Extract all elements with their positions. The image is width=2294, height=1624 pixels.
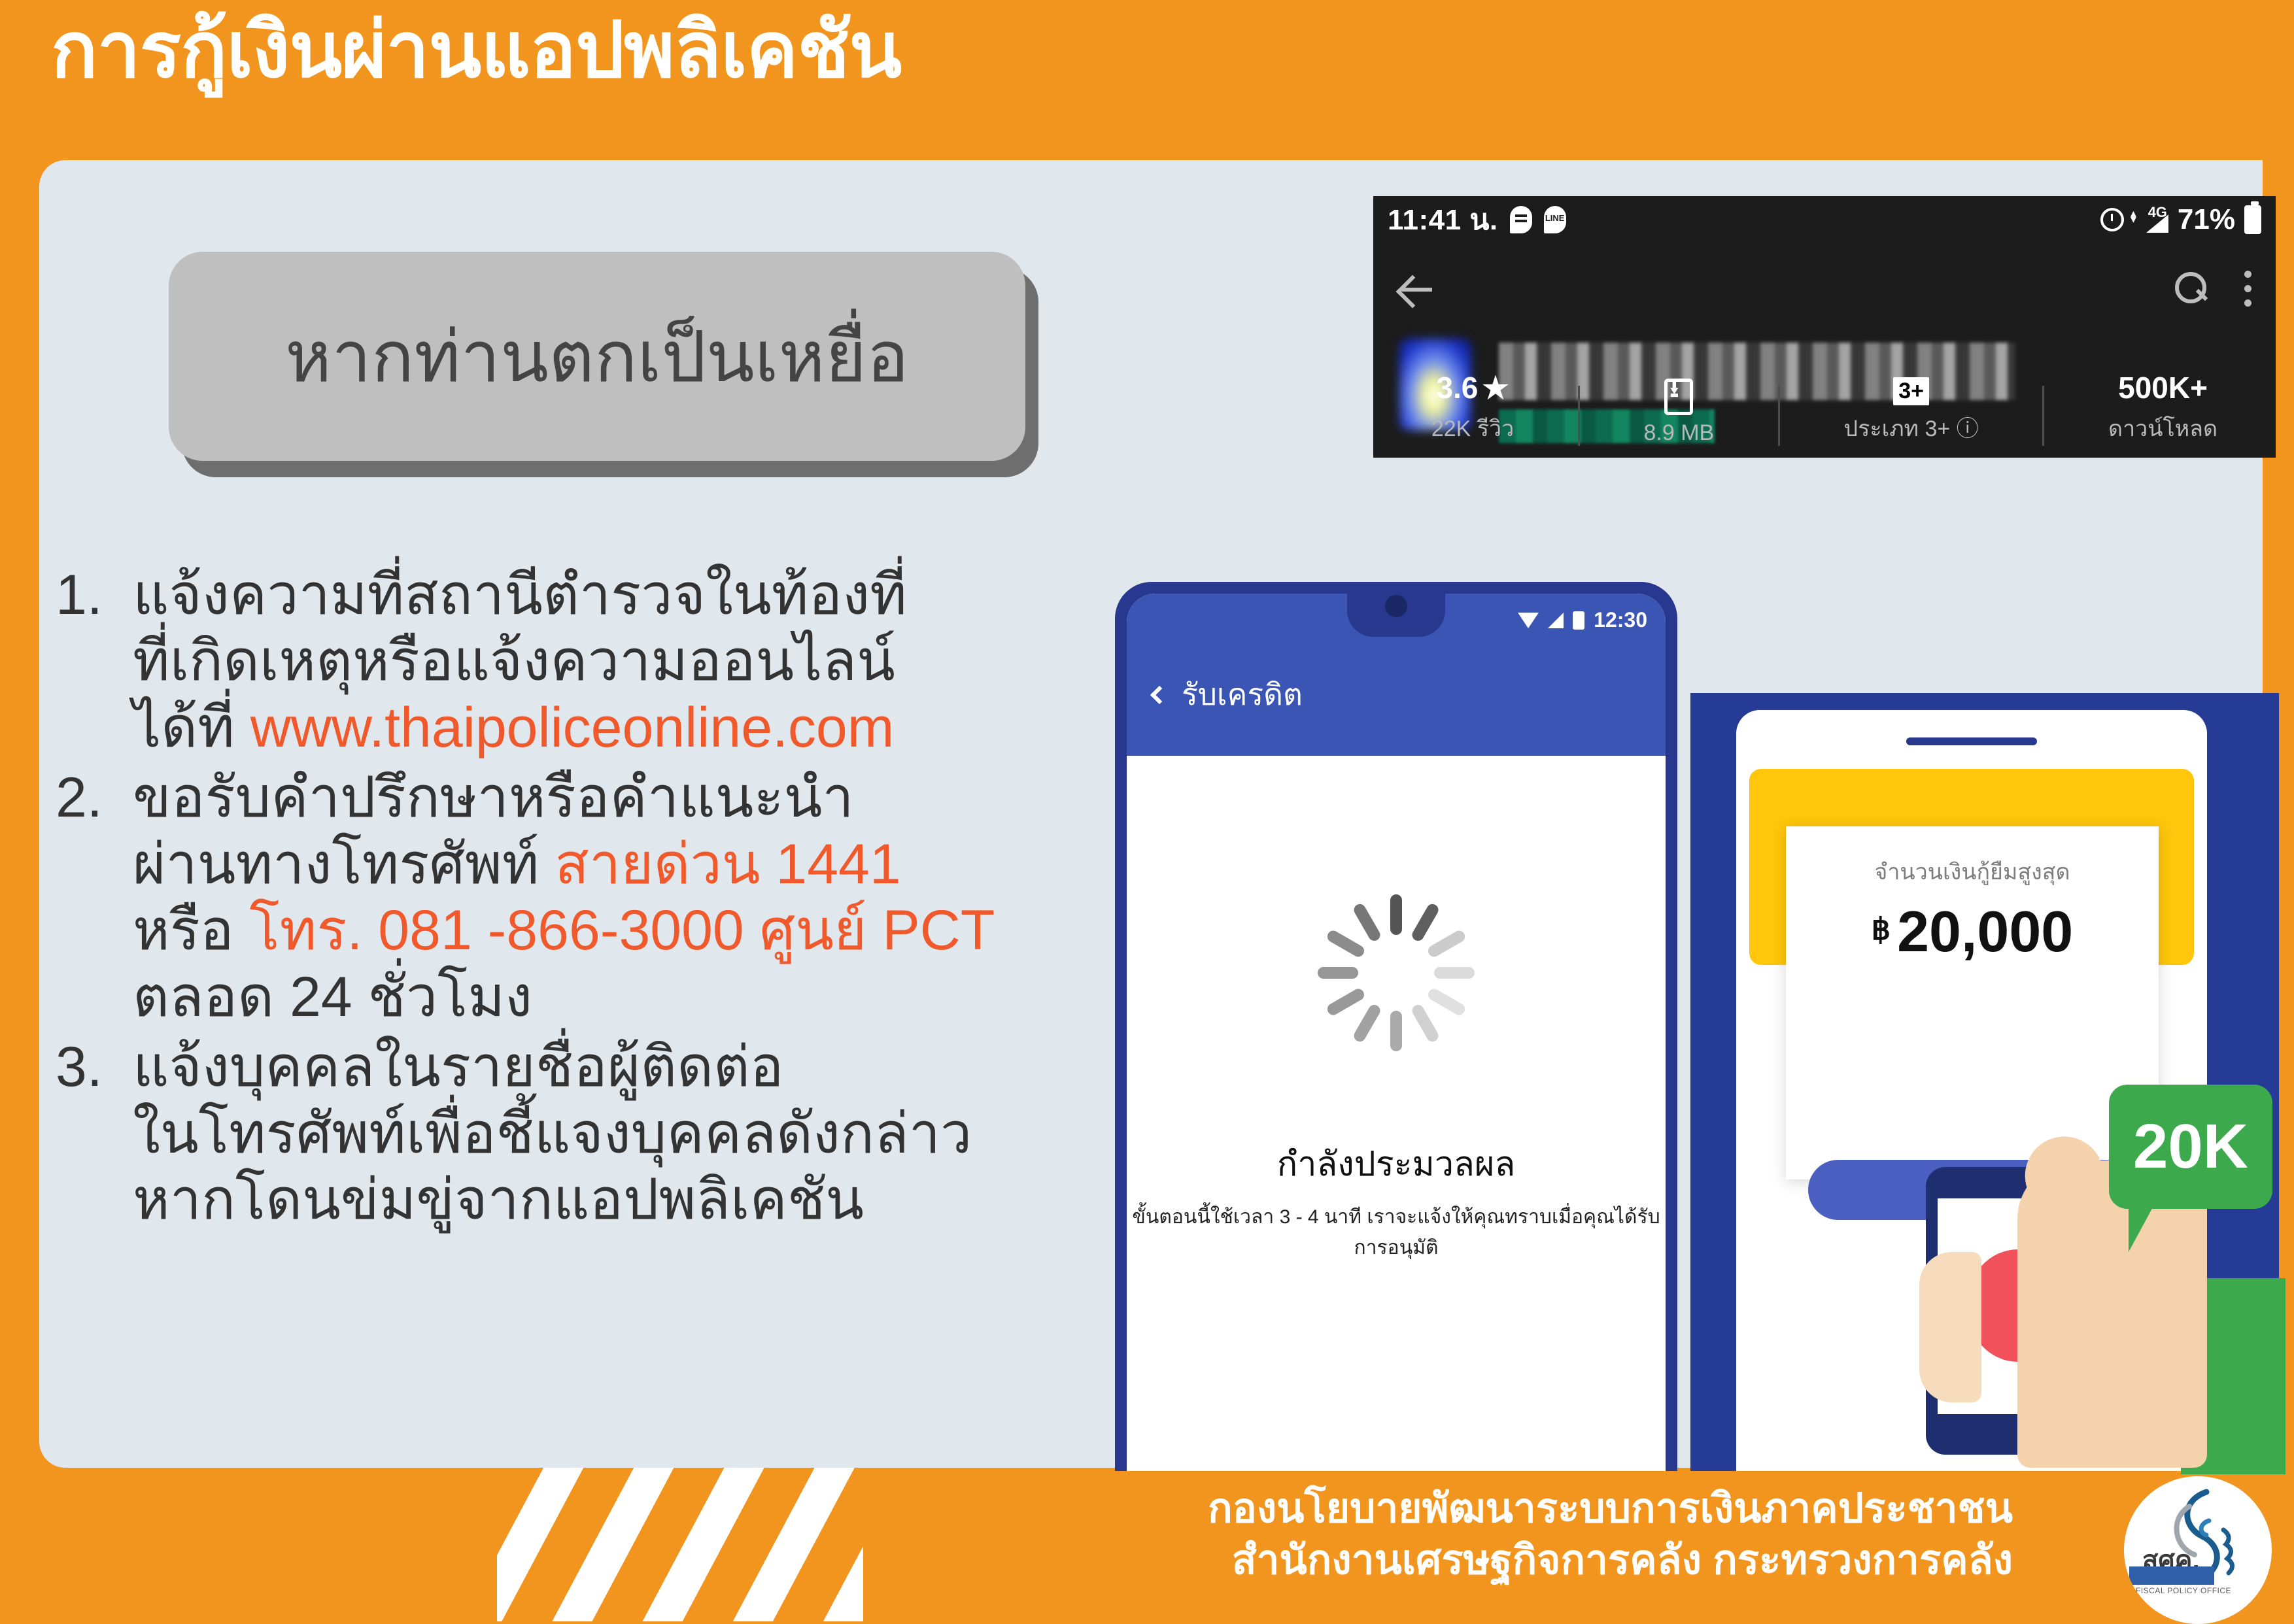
step-number: 2. <box>56 765 133 1030</box>
alarm-icon <box>2100 208 2124 231</box>
step-text-line: แจ้งบุคคลในรายชื่อผู้ติดต่อ <box>133 1034 972 1100</box>
step-plain: หรือ <box>133 899 249 962</box>
step-text-line: ที่เกิดเหตุหรือแจ้งความออนไลน์ <box>133 628 907 694</box>
spinner-spoke <box>1410 1003 1441 1044</box>
battery-percent: 71% <box>2178 203 2235 236</box>
back-chevron-icon[interactable] <box>1150 685 1169 703</box>
step-text-line: ในโทรศัพท์เพื่อชี้แจงบุคคลดังกล่าว <box>133 1101 972 1167</box>
step-highlight: โทร. 081 -866-3000 ศูนย์ PCT <box>249 899 995 962</box>
step-highlight: สายด่วน 1441 <box>555 833 900 896</box>
stat-divider <box>1778 386 1780 446</box>
spinner-spoke <box>1318 967 1358 979</box>
footer-line-1: กองนโยบายพัฒนาระบบการเงินภาคประชาชน <box>1208 1483 2013 1534</box>
stat-main: 500K+ <box>2118 370 2208 405</box>
stat-value: 3.6 <box>1436 370 1478 405</box>
amount-speech-bubble: 20K <box>2109 1085 2272 1209</box>
amount-value: 20,000 <box>1897 899 2073 964</box>
stat-divider <box>1578 386 1580 446</box>
loading-spinner-icon <box>1318 894 1475 1051</box>
victim-badge-label: หากท่านตกเป็นเหยื่อ <box>285 300 909 413</box>
search-icon[interactable] <box>2175 272 2209 306</box>
notification-icon <box>1510 206 1532 233</box>
page-title: การกู้เงินผ่านแอปพลิเคชัน <box>51 7 901 95</box>
hand-phone-illustration: 20K <box>1919 1089 2285 1474</box>
stat-sublabel: ดาวน์โหลด <box>2108 411 2217 446</box>
download-icon <box>1664 379 1693 415</box>
app-top-bar: 12:30 รับเครดิต <box>1127 594 1666 756</box>
battery-icon <box>1573 611 1584 630</box>
step-text-line: ได้ที่ www.thaipoliceonline.com <box>133 695 907 761</box>
stat-sublabel: ประเภท 3+ ⓘ <box>1843 411 1978 446</box>
spinner-spoke <box>1352 1003 1382 1044</box>
signal-bars-icon <box>2146 214 2168 233</box>
stat-value: 500K+ <box>2118 370 2208 405</box>
speech-bubble-label: 20K <box>2133 1111 2248 1183</box>
step-text-block: แจ้งความที่สถานีตำรวจในท้องที่ที่เกิดเหต… <box>133 562 907 761</box>
step-text-line: ตลอด 24 ชั่วโมง <box>133 964 995 1030</box>
stat-main <box>1664 379 1693 415</box>
phone-notch <box>1347 594 1445 637</box>
loading-title: กำลังประมวลผล <box>1127 1136 1666 1191</box>
step-plain: หากโดนข่มขู่จากแอปพลิเคชัน <box>133 1168 864 1231</box>
step-plain: ผ่านทางโทรศัพท์ <box>133 833 555 896</box>
stat-main: 3.6★ <box>1436 370 1509 405</box>
step-text-line: ขอรับคำปรึกษาหรือคำแนะนำ <box>133 765 995 831</box>
step-highlight: www.thaipoliceonline.com <box>250 696 895 759</box>
fpo-logo-bar <box>2129 1566 2214 1585</box>
cell-signal-icon <box>1548 613 1564 628</box>
step-text-block: ขอรับคำปรึกษาหรือคำแนะนำผ่านทางโทรศัพท์ … <box>133 765 995 1030</box>
line-app-icon: LINE <box>1544 206 1566 233</box>
signal-icon: ▴▾ 4G <box>2133 207 2168 233</box>
step-text-line: หรือ โทร. 081 -866-3000 ศูนย์ PCT <box>133 898 995 964</box>
spinner-spoke <box>1410 902 1441 943</box>
step-plain: ได้ที่ <box>133 696 250 759</box>
status-time: 11:41 น. <box>1388 197 1498 243</box>
step-text-line: หากโดนข่มขู่จากแอปพลิเคชัน <box>133 1167 972 1233</box>
footer-diagonal-stripes <box>497 1468 863 1621</box>
playstore-screenshot: 11:41 น. LINE ▴▾ 4G 71% 3.6★22K รีวิว8.9… <box>1373 196 2276 458</box>
spinner-spoke <box>1390 1011 1402 1051</box>
step-text-line: ผ่านทางโทรศัพท์ สายด่วน 1441 <box>133 832 995 898</box>
phone-speaker <box>1906 737 2037 745</box>
spinner-spoke <box>1326 928 1367 959</box>
phone-left-screen: 12:30 รับเครดิต กำลังประมวลผล ขั้นตอนนี้… <box>1127 594 1666 1471</box>
app-header-title: รับเครดิต <box>1182 671 1303 719</box>
stat-main: 3+ <box>1893 377 1929 405</box>
toolbar-right <box>2175 271 2252 307</box>
status-right-cluster: ▴▾ 4G 71% <box>2100 203 2261 236</box>
step-item: 1.แจ้งความที่สถานีตำรวจในท้องที่ที่เกิดเ… <box>56 562 1115 761</box>
step-number: 1. <box>56 562 133 761</box>
currency-symbol: ฿ <box>1872 912 1891 946</box>
hand-thumb <box>1919 1252 1981 1402</box>
victim-badge: หากท่านตกเป็นเหยื่อ <box>169 252 1025 461</box>
step-plain: ขอรับคำปรึกษาหรือคำแนะนำ <box>133 766 854 829</box>
footer-line-2: สำนักงานเศรษฐกิจการคลัง กระทรวงการคลัง <box>1208 1534 2013 1586</box>
step-plain: แจ้งความที่สถานีตำรวจในท้องที่ <box>133 564 907 626</box>
step-text-block: แจ้งบุคคลในรายชื่อผู้ติดต่อในโทรศัพท์เพื… <box>133 1034 972 1233</box>
overflow-menu-icon[interactable] <box>2244 271 2252 307</box>
stat-divider <box>2042 386 2044 446</box>
step-item: 3.แจ้งบุคคลในรายชื่อผู้ติดต่อในโทรศัพท์เ… <box>56 1034 1115 1233</box>
spinner-spoke <box>1426 928 1467 959</box>
loan-amount: ฿20,000 <box>1786 898 2159 965</box>
wifi-icon <box>1518 613 1539 628</box>
loan-card-label: จำนวนเงินกู้ยืมสูงสุด <box>1786 854 2159 889</box>
data-arrows-icon: ▴▾ <box>2131 211 2136 222</box>
step-item: 2.ขอรับคำปรึกษาหรือคำแนะนำผ่านทางโทรศัพท… <box>56 765 1115 1030</box>
step-plain: ที่เกิดเหตุหรือแจ้งความออนไลน์ <box>133 630 895 692</box>
age-rating-icon: 3+ <box>1893 377 1929 405</box>
step-plain: ตลอด 24 ชั่วโมง <box>133 966 532 1028</box>
stat-sublabel: 22K รีวิว <box>1431 411 1514 446</box>
line-icon-label: LINE <box>1545 213 1565 223</box>
step-text-line: แจ้งความที่สถานีตำรวจในท้องที่ <box>133 562 907 628</box>
steps-list: 1.แจ้งความที่สถานีตำรวจในท้องที่ที่เกิดเ… <box>56 562 1115 1238</box>
fpo-logo: สศค. FISCAL POLICY OFFICE <box>2124 1476 2272 1624</box>
playstore-stat: 3+ประเภท 3+ ⓘ <box>1843 377 1978 446</box>
app-header: รับเครดิต <box>1153 671 1303 719</box>
back-arrow-icon[interactable] <box>1397 270 1435 308</box>
stat-sublabel: 8.9 MB <box>1643 420 1714 446</box>
step-plain: ในโทรศัพท์เพื่อชี้แจงบุคคลดังกล่าว <box>133 1102 972 1165</box>
step-number: 3. <box>56 1034 133 1233</box>
battery-icon <box>2244 205 2261 234</box>
spinner-spoke <box>1390 894 1402 935</box>
step-plain: แจ้งบุคคลในรายชื่อผู้ติดต่อ <box>133 1036 783 1098</box>
playstore-stat: 3.6★22K รีวิว <box>1431 370 1514 446</box>
playstore-stat: 500K+ดาวน์โหลด <box>2108 370 2217 446</box>
spinner-spoke <box>1426 987 1467 1017</box>
spinner-spoke <box>1352 902 1382 943</box>
playstore-stat: 8.9 MB <box>1643 379 1714 446</box>
spinner-spoke <box>1326 987 1367 1017</box>
playstore-status-bar: 11:41 น. LINE ▴▾ 4G 71% <box>1373 196 2276 243</box>
spinner-spoke <box>1434 967 1475 979</box>
playstore-action-bar <box>1373 256 2276 322</box>
phone-mockup-left: 12:30 รับเครดิต กำลังประมวลผล ขั้นตอนนี้… <box>1115 582 1677 1471</box>
footer-organization: กองนโยบายพัฒนาระบบการเงินภาคประชาชน สำนั… <box>1208 1483 2013 1587</box>
phone-status-bar: 12:30 <box>1518 608 1647 632</box>
fpo-logo-subtitle: FISCAL POLICY OFFICE <box>2136 1586 2231 1595</box>
status-time: 12:30 <box>1594 608 1647 632</box>
star-icon: ★ <box>1482 370 1509 405</box>
loading-description: ขั้นตอนนี้ใช้เวลา 3 - 4 นาที เราจะแจ้งให… <box>1127 1202 1666 1263</box>
playstore-stats-row: 3.6★22K รีวิว8.9 MB3+ประเภท 3+ ⓘ500K+ดาว… <box>1373 370 2276 446</box>
front-camera-icon <box>1385 595 1407 617</box>
